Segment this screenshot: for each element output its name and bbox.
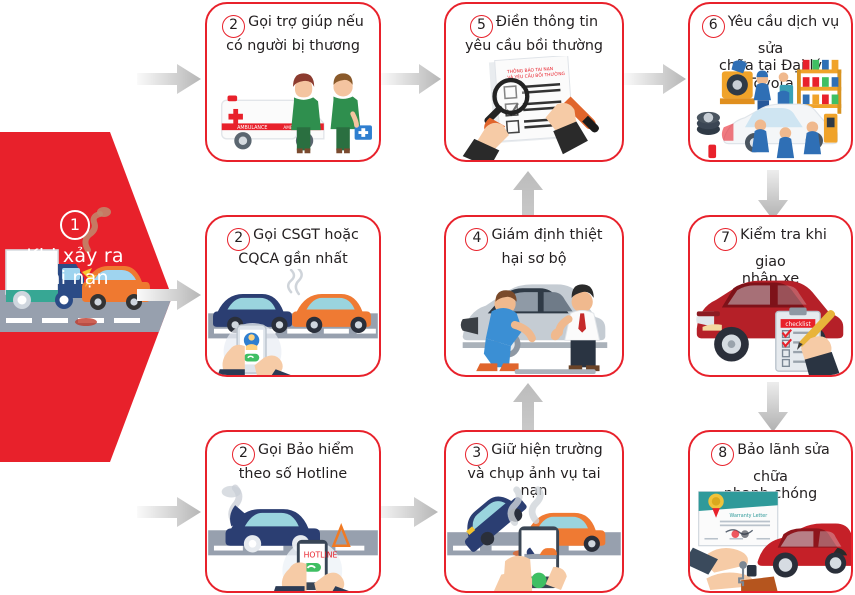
arrow-start-to-step2-police (137, 278, 203, 312)
start-line-2: tai nạn (0, 267, 150, 289)
arrow-start-to-step2-hotline (137, 495, 203, 529)
step-5-header: 5Điền thông tin yêu cầu bồi thường (446, 4, 622, 57)
accident-scene-photo-illustration (446, 484, 622, 591)
damaged-car-inspector-illustration (446, 269, 622, 375)
arrow-step2-emergency-to-step5 (381, 62, 443, 96)
step-3-scene-photos-card[interactable]: 3Giữ hiện trường và chụp ảnh vụ tai nạn (444, 430, 624, 593)
step-title-line2: hại sơ bộ (454, 251, 614, 268)
step-title-line2: yêu cầu bồi thường (454, 38, 614, 55)
step-2-emergency-header: 2Gọi trợ giúp nếu có người bị thương (207, 4, 379, 57)
step-2-hotline-header: 2Gọi Bảo hiểm theo số Hotline (207, 432, 379, 485)
step-title-line1: Điền thông tin (496, 14, 598, 30)
warranty-certificate-keys-car-illustration: Warranty Letter (690, 484, 851, 591)
step-6-dealer-repair-card[interactable]: 6Yêu cầu dịch vụ sửa chữa tại Đại lý Toy… (688, 2, 853, 162)
step-badge: 2 (222, 15, 245, 38)
red-car-checklist-illustration: checklist (690, 269, 851, 375)
step-2-hotline-card[interactable]: 2Gọi Bảo hiểm theo số Hotline HOTLINE (205, 430, 381, 593)
step-7-handover-check-card[interactable]: 7Kiểm tra khi giao nhận xe checklist (688, 215, 853, 377)
step-badge: 7 (714, 228, 737, 251)
arrow-step7-to-step8 (756, 382, 790, 434)
step-2-police-header: 2Gọi CSGT hoặc CQCA gần nhất (207, 217, 379, 270)
step-5-claim-form-card[interactable]: 5Điền thông tin yêu cầu bồi thường THÔNG… (444, 2, 624, 162)
step-title-line1: Gọi trợ giúp nếu (248, 14, 364, 30)
step-badge: 2 (227, 228, 250, 251)
svg-text:AMBULANCE: AMBULANCE (237, 125, 267, 131)
step-badge: 6 (702, 15, 725, 38)
svg-text:Warranty Letter: Warranty Letter (730, 513, 768, 519)
step-title-line1: Bảo lãnh sửa chữa (737, 442, 830, 485)
step-title-line1: Kiểm tra khi giao (740, 227, 827, 270)
step-title-line1: Gọi Bảo hiểm (258, 442, 354, 458)
step-title-line1: Giám định thiệt (491, 227, 602, 243)
svg-text:checklist: checklist (785, 322, 811, 328)
two-cars-phone-call-illustration (207, 269, 379, 375)
arrow-step3-to-step4 (511, 382, 545, 434)
start-line-1: Khi xảy ra (0, 245, 150, 267)
step-title-line2: theo số Hotline (215, 466, 371, 483)
step-title-line1: Yêu cầu dịch vụ sửa (728, 14, 840, 57)
arrow-step2-hotline-to-step3 (374, 495, 440, 529)
step-title-line2: CQCA gần nhất (215, 251, 371, 268)
step-badge: 3 (465, 443, 488, 466)
step-4-damage-assessment-card[interactable]: 4Giám định thiệt hại sơ bộ (444, 215, 624, 377)
arrow-step5-to-step6 (624, 62, 688, 96)
svg-text:HOTLINE: HOTLINE (304, 550, 338, 559)
step-badge: 8 (711, 443, 734, 466)
step-8-fast-warranty-card[interactable]: 8Bảo lãnh sửa chữa nhanh chóng Warranty … (688, 430, 853, 593)
step-badge: 2 (232, 443, 255, 466)
step-4-header: 4Giám định thiệt hại sơ bộ (446, 217, 622, 270)
toyota-service-workshop-illustration (690, 56, 851, 160)
step-2-emergency-card[interactable]: 2Gọi trợ giúp nếu có người bị thương AMB… (205, 2, 381, 162)
step-badge: 4 (465, 228, 488, 251)
step-title-line1: Gọi CSGT hoặc (253, 227, 359, 243)
step-badge: 5 (470, 15, 493, 38)
claim-form-magnifier-illustration: THÔNG BÁO TAI NẠN VÀ YÊU CẦU BỒI THƯỜNG (446, 56, 622, 160)
start-badge: 1 (60, 210, 90, 240)
step-title-line2: có người bị thương (215, 38, 371, 55)
broken-car-hotline-phone-illustration: HOTLINE (207, 484, 379, 591)
step-2-police-card[interactable]: 2Gọi CSGT hoặc CQCA gần nhất (205, 215, 381, 377)
ambulance-paramedics-illustration: AMBULANCE AMBULANCE (207, 56, 379, 160)
arrow-start-to-step2-emergency (137, 62, 203, 96)
step-title-line1: Giữ hiện trường (491, 442, 603, 458)
